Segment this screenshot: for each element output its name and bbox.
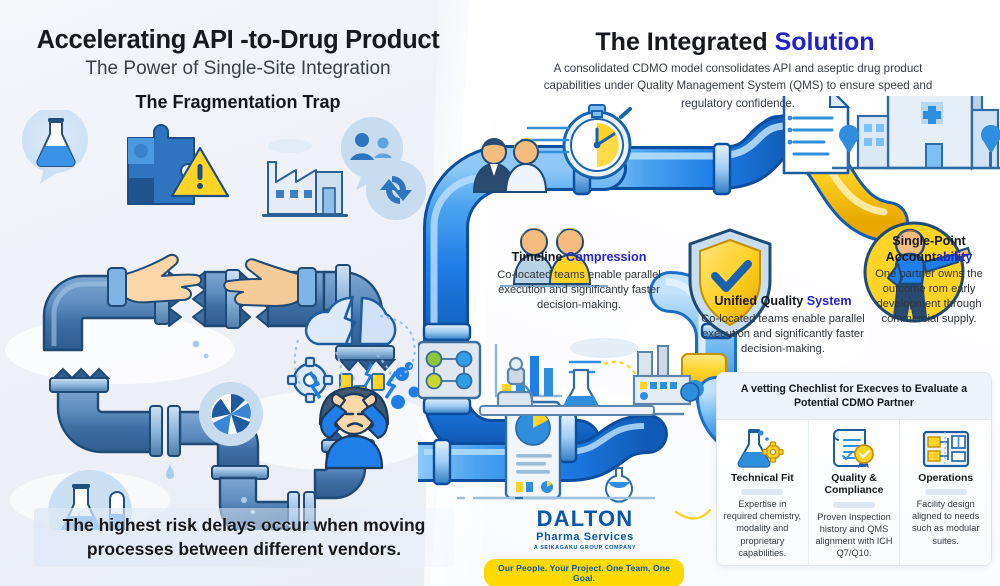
- feature-title: Timeline Compression: [494, 250, 664, 266]
- flask-gear-icon: [737, 427, 787, 471]
- feature-body: Co-located teams enable parallel executi…: [494, 268, 664, 313]
- placeholder-bar: [833, 502, 875, 508]
- infographic-canvas: Accelerating API -to-Drug Product The Po…: [0, 0, 1000, 586]
- logo-subtitle: Pharma Services: [492, 531, 678, 543]
- valve-gauge-icon: [418, 342, 480, 398]
- checklist-item-text: Facility design aligned to needs such as…: [905, 498, 986, 547]
- placeholder-bar: [925, 489, 967, 495]
- checklist-item-operations[interactable]: Operations Facility design aligned to ne…: [900, 420, 991, 566]
- logo-tagline: Our People. Your Project. One Team, One …: [484, 559, 684, 586]
- logo-name: DALTON: [492, 508, 678, 530]
- factory-icon: [262, 139, 348, 217]
- checklist-item-text: Proven Inspection history and QMS alignm…: [814, 511, 895, 560]
- risk-statement: The highest risk delays occur when movin…: [34, 508, 454, 567]
- page-title: Accelerating API -to-Drug Product: [18, 26, 458, 55]
- checklist-item-quality-compliance[interactable]: Quality & Compliance Proven Inspection h…: [809, 420, 901, 566]
- small-flask-icon: [606, 468, 632, 502]
- feature-title-dark: Unified Quality: [714, 294, 806, 308]
- refresh-cycle-icon: [366, 160, 426, 220]
- feature-title-accent: System: [807, 294, 852, 308]
- pinwheel-icon: [199, 382, 263, 446]
- feature-title: Single-Point Accountability: [866, 234, 992, 265]
- checklist-item-title: Operations: [918, 473, 973, 485]
- placeholder-bar: [741, 489, 783, 495]
- feature-title-accent: Compression: [566, 250, 646, 264]
- checklist-columns: Technical Fit Expertise in required chem…: [717, 420, 991, 566]
- feature-title: Unified Quality System: [698, 294, 868, 310]
- feature-title-dark: Timeline: [512, 250, 566, 264]
- page-subtitle: The Power of Single-Site Integration: [18, 58, 458, 80]
- broken-cloud-icon: [306, 296, 395, 344]
- right-panel-title: The Integrated Solution: [500, 28, 970, 57]
- right-panel-subtitle: A consolidated CDMO model consolidates A…: [528, 60, 948, 112]
- checklist-item-title: Technical Fit: [731, 473, 794, 485]
- checklist-item-technical-fit[interactable]: Technical Fit Expertise in required chem…: [717, 420, 809, 566]
- checklist-item-title: Quality & Compliance: [814, 473, 895, 498]
- feature-body: Co-located teams enable parallel executi…: [698, 312, 868, 357]
- feature-title-accent: ability: [936, 250, 972, 264]
- feature-body: One partner owns the outcome rom early d…: [866, 267, 992, 327]
- feature-single-point-accountability: Single-Point Accountability One partner …: [866, 234, 992, 327]
- flask-speech-bubble-icon: [22, 110, 88, 184]
- checklist-item-text: Expertise in required chemistry, modalit…: [722, 498, 803, 559]
- dalton-logo: DALTON Pharma Services A SEIKAGAKU GROUP…: [492, 508, 678, 551]
- feature-unified-quality-system: Unified Quality System Co-located teams …: [698, 294, 868, 356]
- right-title-dark: The Integrated: [595, 28, 774, 56]
- logo-group-line: A SEIKAGAKU GROUP COMPANY: [492, 545, 678, 551]
- feature-timeline-compression: Timeline Compression Co-located teams en…: [494, 250, 664, 312]
- fragmentation-section-label: The Fragmentation Trap: [18, 92, 458, 113]
- certificate-seal-icon: [829, 427, 879, 471]
- pie-chart-panel-icon: [506, 402, 560, 498]
- stressed-person-icon: [296, 360, 414, 472]
- checklist-heading: A vetting Chechlist for Execves to Evalu…: [717, 373, 991, 420]
- right-title-accent: Solution: [775, 28, 875, 56]
- floorplan-icon: [921, 427, 971, 471]
- vetting-checklist-panel: A vetting Chechlist for Execves to Evalu…: [716, 372, 992, 566]
